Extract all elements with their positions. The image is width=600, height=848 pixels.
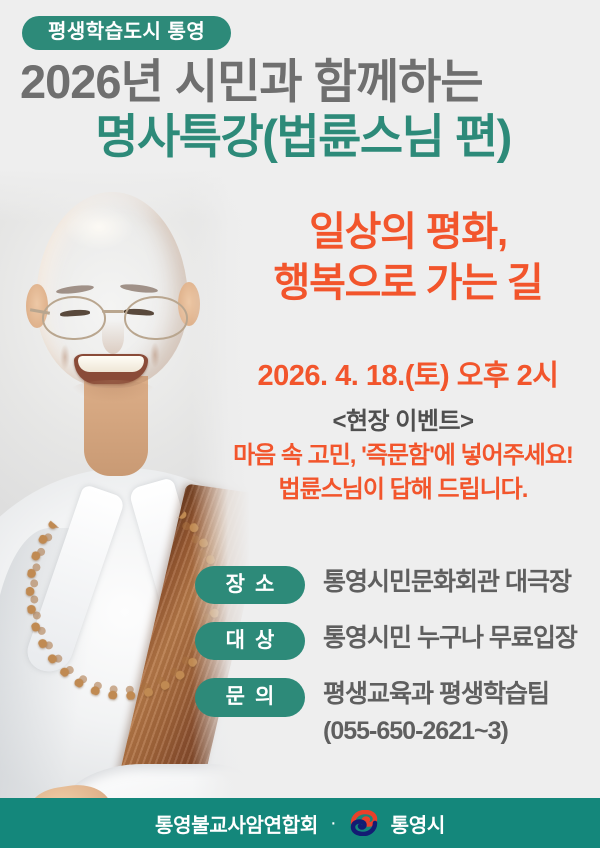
- info-value-contact-phone: (055-650-2621~3): [323, 715, 595, 748]
- poster-title-line-2: 명사특강(법륜스님 편): [20, 112, 586, 161]
- onsite-event-block: <현장 이벤트> 마음 속 고민, '즉문함'에 넣어주세요! 법륜스님이 답해…: [212, 405, 594, 507]
- event-info-list: 장소 통영시민문화회관 대극장 대상 통영시민 누구나 무료입장 문의 평생교육…: [195, 566, 595, 765]
- info-label-audience: 대상: [195, 622, 305, 660]
- info-value-audience-text: 통영시민 누구나 무료입장: [323, 624, 577, 652]
- lecture-headline: 일상의 평화, 행복으로 가는 길: [232, 207, 584, 309]
- poster-root: 평생학습도시 통영 2026년 시민과 함께하는 명사특강(법륜스님 편) 일상…: [0, 0, 600, 848]
- info-label-venue: 장소: [195, 566, 305, 604]
- lifelong-learning-city-badge: 평생학습도시 통영: [22, 16, 231, 50]
- headline-line-1: 일상의 평화,: [232, 207, 584, 258]
- info-row-audience: 대상 통영시민 누구나 무료입장: [195, 622, 595, 660]
- info-value-contact-text: 평생교육과 평생학습팀: [323, 680, 549, 708]
- lens-right: [124, 296, 188, 340]
- info-value-audience: 통영시민 누구나 무료입장: [305, 622, 595, 655]
- info-value-venue-text: 통영시민문화회관 대극장: [323, 568, 571, 596]
- korea-government-taegeuk-logo-icon: [349, 810, 379, 836]
- footer-city: 통영시: [391, 809, 445, 838]
- info-row-contact: 문의 평생교육과 평생학습팀 (055-650-2621~3): [195, 678, 595, 747]
- poster-title-line-1: 2026년 시민과 함께하는: [20, 57, 586, 106]
- smile-crease-left: [60, 344, 70, 370]
- info-label-contact: 문의: [195, 678, 305, 716]
- footer-organization: 통영불교사암연합회: [155, 809, 318, 838]
- onsite-event-line-1: 마음 속 고민, '즉문함'에 넣어주세요!: [212, 439, 594, 473]
- footer-separator: ·: [330, 813, 337, 833]
- event-datetime: 2026. 4. 18.(토) 오후 2시: [232, 352, 584, 394]
- info-value-venue: 통영시민문화회관 대극장: [305, 566, 595, 599]
- glasses-bridge: [102, 310, 124, 313]
- teeth: [78, 356, 144, 372]
- headline-line-2: 행복으로 가는 길: [232, 258, 584, 309]
- eyeglasses-icon: [36, 296, 190, 338]
- info-value-contact: 평생교육과 평생학습팀 (055-650-2621~3): [305, 678, 595, 747]
- info-row-venue: 장소 통영시민문화회관 대극장: [195, 566, 595, 604]
- onsite-event-line-2: 법륜스님이 답해 드립니다.: [212, 473, 594, 507]
- chin-shadow: [70, 380, 156, 402]
- poster-footer: 통영불교사암연합회 · 통영시: [0, 798, 600, 848]
- lens-left: [42, 296, 106, 340]
- onsite-event-heading: <현장 이벤트>: [212, 405, 594, 439]
- smile-crease-right: [150, 342, 160, 368]
